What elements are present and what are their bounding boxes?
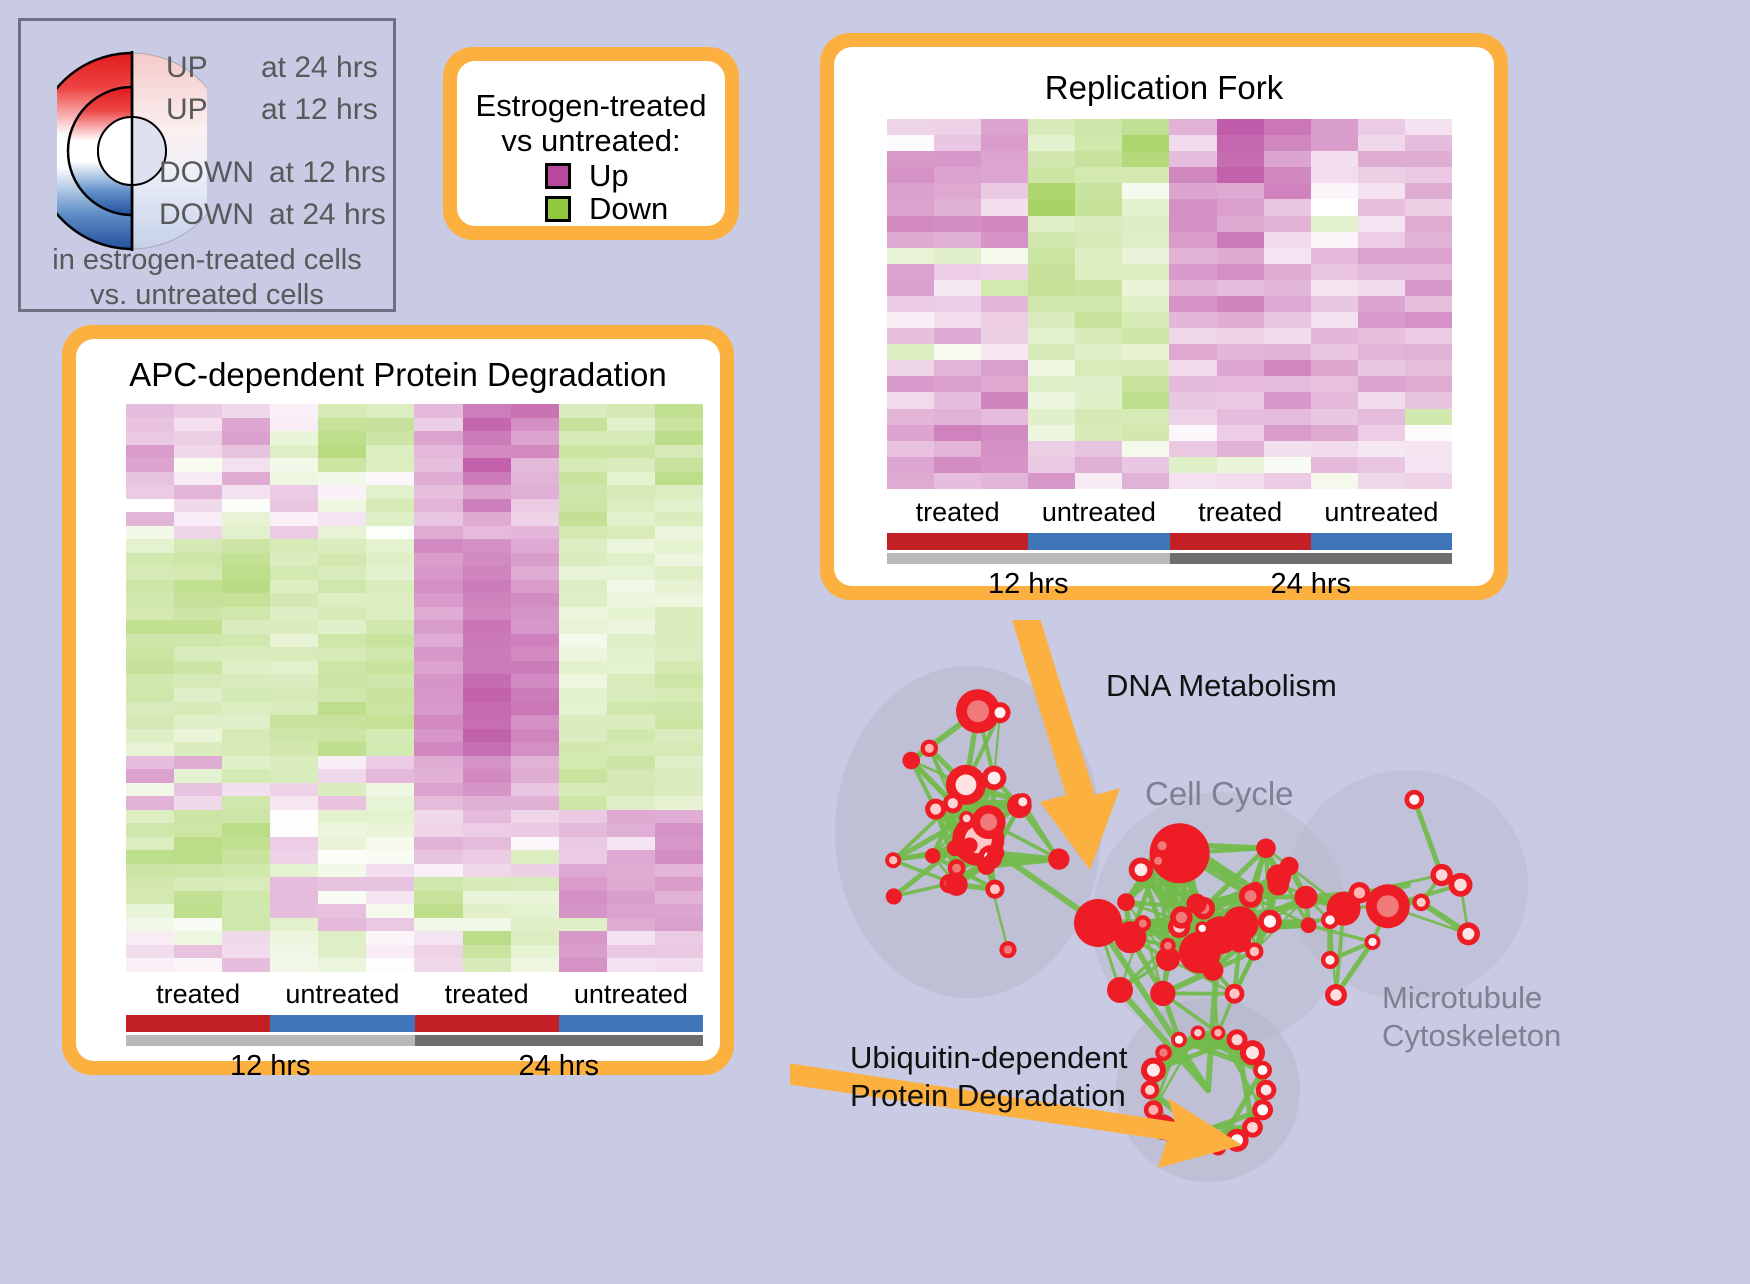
- heatmap-cell: [463, 566, 511, 580]
- heatmap-cell: [1405, 328, 1452, 344]
- sample-label: treated: [1170, 497, 1311, 528]
- heatmap-cell: [126, 499, 174, 513]
- network-node[interactable]: [1129, 857, 1154, 882]
- node-inner-core: [1139, 919, 1147, 927]
- heatmap-cell: [1028, 344, 1075, 360]
- key-label-down-12: DOWN: [159, 156, 254, 190]
- heatmap-cell: [981, 216, 1028, 232]
- heatmap-cell: [1405, 392, 1452, 408]
- heatmap-cell: [174, 702, 222, 716]
- heatmap-cell: [222, 729, 270, 743]
- heatmap-cell: [174, 418, 222, 432]
- heatmap-cell: [1122, 167, 1169, 183]
- heatmap-cell: [318, 742, 366, 756]
- heatmap-cell: [981, 312, 1028, 328]
- heatmap-cell: [934, 264, 981, 280]
- heatmap-cell: [1122, 312, 1169, 328]
- condition-bar-segment: [1028, 533, 1169, 550]
- heatmap-cell: [174, 674, 222, 688]
- node-inner-core: [1462, 928, 1474, 940]
- node-inner-core: [1148, 1105, 1158, 1115]
- heatmap-cell: [174, 593, 222, 607]
- heatmap-cell: [1122, 328, 1169, 344]
- network-node[interactable]: [1141, 1058, 1166, 1083]
- heatmap-cell: [1264, 264, 1311, 280]
- heatmap-cell: [318, 850, 366, 864]
- heatmap-cell: [1217, 151, 1264, 167]
- heatmap-cell: [559, 593, 607, 607]
- heatmap-cell: [655, 864, 703, 878]
- heatmap-cell: [222, 674, 270, 688]
- heatmap-cell: [887, 119, 934, 135]
- heatmap-cell: [559, 580, 607, 594]
- network-node[interactable]: [1349, 882, 1371, 904]
- heatmap-cell: [414, 810, 462, 824]
- heatmap-cell: [270, 620, 318, 634]
- heatmap-cell: [607, 688, 655, 702]
- heatmap-cell: [270, 796, 318, 810]
- heatmap-cell: [270, 634, 318, 648]
- network-node[interactable]: [1191, 1025, 1206, 1040]
- cluster-label-microtubule-line1: Microtubule: [1382, 980, 1542, 1017]
- heatmap-cell: [270, 931, 318, 945]
- heatmap-cell: [318, 607, 366, 621]
- heatmap-cell: [366, 904, 414, 918]
- heatmap-cell: [559, 485, 607, 499]
- node-inner-core: [1409, 794, 1419, 804]
- heatmap-cell: [1311, 232, 1358, 248]
- heatmap-cell: [1122, 151, 1169, 167]
- network-node[interactable]: [1171, 1032, 1187, 1048]
- heatmap-cell: [1217, 264, 1264, 280]
- replication-fork-panel: Replication Fork treateduntreatedtreated…: [820, 33, 1508, 600]
- heatmap-cell: [463, 418, 511, 432]
- heatmap-cell: [559, 512, 607, 526]
- network-node[interactable]: [1258, 910, 1282, 934]
- heatmap-cell: [559, 769, 607, 783]
- heatmap-cell: [270, 418, 318, 432]
- heatmap-cell: [270, 472, 318, 486]
- heatmap-cell: [655, 418, 703, 432]
- network-node[interactable]: [902, 752, 920, 770]
- node-inner-core: [1325, 955, 1334, 964]
- heatmap-cell: [655, 620, 703, 634]
- heatmap-cell: [366, 823, 414, 837]
- heatmap-cell: [463, 445, 511, 459]
- heatmap-cell: [463, 850, 511, 864]
- node-inner-core: [1232, 1034, 1243, 1045]
- heatmap-cell: [887, 312, 934, 328]
- network-node[interactable]: [962, 837, 978, 853]
- heatmap-cell: [559, 742, 607, 756]
- node-outer-ring: [1150, 981, 1175, 1006]
- heatmap-cell: [270, 756, 318, 770]
- network-node[interactable]: [1256, 1080, 1277, 1101]
- heatmap-cell: [1264, 328, 1311, 344]
- network-node[interactable]: [1203, 960, 1224, 981]
- heatmap-cell: [222, 783, 270, 797]
- heatmap-cell: [270, 526, 318, 540]
- heatmap-cell: [318, 566, 366, 580]
- heatmap-cell: [655, 729, 703, 743]
- heatmap-cell: [1358, 135, 1405, 151]
- heatmap-cell: [414, 729, 462, 743]
- network-node[interactable]: [1412, 894, 1430, 912]
- heatmap-cell: [559, 783, 607, 797]
- heatmap-cell: [607, 526, 655, 540]
- heatmap-cell: [1075, 376, 1122, 392]
- heatmap-cell: [655, 499, 703, 513]
- replication-fork-sample-labels: treateduntreatedtreateduntreated: [887, 497, 1452, 528]
- heatmap-cell: [1311, 441, 1358, 457]
- heatmap-cell: [655, 674, 703, 688]
- heatmap-cell: [607, 796, 655, 810]
- network-node[interactable]: [1301, 917, 1317, 933]
- heatmap-cell: [934, 216, 981, 232]
- network-node[interactable]: [1457, 922, 1480, 945]
- heatmap-cell: [511, 674, 559, 688]
- heatmap-cell: [1311, 425, 1358, 441]
- heatmap-cell: [1075, 473, 1122, 489]
- heatmap-cell: [222, 837, 270, 851]
- heatmap-cell: [1028, 328, 1075, 344]
- network-node[interactable]: [1266, 864, 1291, 889]
- heatmap-cell: [511, 702, 559, 716]
- pathway-network-svg: [790, 620, 1750, 1279]
- heatmap-cell: [1075, 248, 1122, 264]
- heatmap-cell: [318, 431, 366, 445]
- apc-condition-bar: [126, 1015, 703, 1032]
- heatmap-cell: [270, 607, 318, 621]
- heatmap-cell: [1358, 312, 1405, 328]
- heatmap-cell: [559, 931, 607, 945]
- heatmap-cell: [655, 634, 703, 648]
- heatmap-cell: [1122, 425, 1169, 441]
- network-node[interactable]: [1325, 984, 1347, 1006]
- replication-fork-time-bar: [887, 553, 1452, 564]
- heatmap-cell: [1217, 409, 1264, 425]
- sample-label: untreated: [1028, 497, 1169, 528]
- network-node[interactable]: [1239, 884, 1263, 908]
- heatmap-cell: [1028, 392, 1075, 408]
- heatmap-cell: [318, 580, 366, 594]
- heatmap-cell: [318, 958, 366, 972]
- condition-bar-segment: [126, 1015, 270, 1032]
- heatmap-cell: [366, 445, 414, 459]
- heatmap-cell: [1405, 409, 1452, 425]
- heatmap-cell: [270, 810, 318, 824]
- network-node[interactable]: [989, 702, 1010, 723]
- heatmap-cell: [1028, 473, 1075, 489]
- network-node[interactable]: [1144, 1100, 1163, 1119]
- node-inner-core: [925, 744, 934, 753]
- heatmap-cell: [1217, 360, 1264, 376]
- node-inner-core: [988, 772, 1001, 785]
- network-node[interactable]: [1135, 915, 1151, 931]
- heatmap-cell: [414, 539, 462, 553]
- node-inner-core: [1159, 1049, 1167, 1057]
- node-inner-core: [1229, 989, 1239, 999]
- heatmap-cell: [511, 729, 559, 743]
- apc-panel: APC-dependent Protein Degradation treate…: [62, 325, 734, 1075]
- heatmap-cell: [655, 566, 703, 580]
- heatmap-cell: [559, 634, 607, 648]
- heatmap-cell: [1122, 296, 1169, 312]
- heatmap-cell: [1264, 344, 1311, 360]
- heatmap-cell: [1122, 344, 1169, 360]
- heatmap-cell: [655, 931, 703, 945]
- heatmap-cell: [463, 647, 511, 661]
- heatmap-cell: [1028, 425, 1075, 441]
- heatmap-cell: [655, 553, 703, 567]
- heatmap-cell: [981, 280, 1028, 296]
- legend-swatch-up: [545, 163, 571, 189]
- heatmap-cell: [1122, 473, 1169, 489]
- node-inner-core: [1164, 942, 1172, 950]
- heatmap-cell: [414, 688, 462, 702]
- network-node[interactable]: [999, 941, 1016, 958]
- legend-swatch-down: [545, 196, 571, 222]
- apc-heatmap: [126, 404, 703, 972]
- key-label-down-24: DOWN: [159, 198, 254, 232]
- heatmap-cell: [1169, 312, 1216, 328]
- heatmap-cell: [126, 445, 174, 459]
- heatmap-cell: [1169, 183, 1216, 199]
- heatmap-cell: [414, 512, 462, 526]
- heatmap-cell: [607, 945, 655, 959]
- heatmap-cell: [463, 756, 511, 770]
- heatmap-cell: [1028, 119, 1075, 135]
- heatmap-cell: [414, 702, 462, 716]
- heatmap-cell: [1169, 376, 1216, 392]
- heatmap-cell: [1075, 328, 1122, 344]
- network-node[interactable]: [1074, 899, 1122, 947]
- heatmap-cell: [126, 756, 174, 770]
- heatmap-cell: [1075, 425, 1122, 441]
- network-node[interactable]: [1228, 930, 1251, 953]
- network-node[interactable]: [987, 844, 1004, 861]
- heatmap-cell: [366, 485, 414, 499]
- heatmap-cell: [174, 526, 222, 540]
- heatmap-cell: [1405, 376, 1452, 392]
- heatmap-cell: [222, 958, 270, 972]
- heatmap-cell: [126, 539, 174, 553]
- heatmap-cell: [1028, 248, 1075, 264]
- network-node[interactable]: [1107, 977, 1133, 1003]
- heatmap-cell: [222, 769, 270, 783]
- heatmap-cell: [366, 418, 414, 432]
- heatmap-cell: [887, 167, 934, 183]
- network-node[interactable]: [885, 852, 901, 868]
- heatmap-cell: [607, 593, 655, 607]
- heatmap-cell: [463, 674, 511, 688]
- heatmap-cell: [511, 877, 559, 891]
- replication-fork-inner: Replication Fork treateduntreatedtreated…: [834, 47, 1494, 586]
- network-node[interactable]: [925, 799, 946, 820]
- heatmap-cell: [174, 864, 222, 878]
- heatmap-cell: [1264, 199, 1311, 215]
- network-node[interactable]: [1256, 838, 1276, 858]
- legend-title-line2: vs untreated:: [457, 124, 725, 159]
- heatmap-cell: [607, 553, 655, 567]
- time-label: 24 hrs: [1170, 568, 1453, 601]
- network-node[interactable]: [982, 766, 1007, 791]
- heatmap-cell: [318, 783, 366, 797]
- node-outer-ring: [962, 837, 978, 853]
- network-node[interactable]: [1404, 790, 1424, 810]
- heatmap-cell: [1405, 360, 1452, 376]
- heatmap-cell: [1075, 409, 1122, 425]
- heatmap-cell: [607, 566, 655, 580]
- network-node[interactable]: [886, 888, 902, 904]
- node-outer-ring: [886, 888, 902, 904]
- heatmap-cell: [414, 864, 462, 878]
- network-node[interactable]: [1366, 884, 1410, 928]
- heatmap-cell: [318, 404, 366, 418]
- heatmap-cell: [463, 593, 511, 607]
- heatmap-cell: [222, 742, 270, 756]
- heatmap-cell: [1169, 425, 1216, 441]
- heatmap-cell: [126, 837, 174, 851]
- heatmap-cell: [270, 918, 318, 932]
- heatmap-cell: [463, 823, 511, 837]
- network-node[interactable]: [943, 793, 963, 813]
- heatmap-cell: [126, 593, 174, 607]
- network-node[interactable]: [972, 805, 1006, 839]
- heatmap-cell: [655, 431, 703, 445]
- heatmap-cell: [559, 823, 607, 837]
- network-node[interactable]: [1253, 1061, 1272, 1080]
- network-node[interactable]: [1117, 893, 1135, 911]
- heatmap-cell: [366, 539, 414, 553]
- network-node[interactable]: [1155, 1044, 1172, 1061]
- heatmap-cell: [655, 756, 703, 770]
- network-node[interactable]: [925, 848, 940, 863]
- network-node[interactable]: [1294, 886, 1317, 909]
- heatmap-cell: [1311, 280, 1358, 296]
- network-node[interactable]: [1365, 934, 1381, 950]
- heatmap-cell: [270, 593, 318, 607]
- heatmap-cell: [270, 566, 318, 580]
- heatmap-cell: [559, 431, 607, 445]
- heatmap-cell: [222, 553, 270, 567]
- heatmap-cell: [463, 553, 511, 567]
- heatmap-cell: [366, 783, 414, 797]
- network-node[interactable]: [1252, 1099, 1273, 1120]
- heatmap-cell: [511, 931, 559, 945]
- heatmap-cell: [1264, 119, 1311, 135]
- heatmap-cell: [1405, 280, 1452, 296]
- heatmap-cell: [1217, 119, 1264, 135]
- heatmap-cell: [1217, 296, 1264, 312]
- network-node[interactable]: [1160, 938, 1176, 954]
- heatmap-cell: [1264, 167, 1311, 183]
- heatmap-cell: [414, 958, 462, 972]
- heatmap-cell: [1405, 264, 1452, 280]
- heatmap-cell: [463, 837, 511, 851]
- network-node[interactable]: [1048, 848, 1069, 869]
- heatmap-cell: [511, 512, 559, 526]
- heatmap-cell: [414, 593, 462, 607]
- heatmap-cell: [1075, 135, 1122, 151]
- network-node[interactable]: [1449, 873, 1473, 897]
- heatmap-cell: [1122, 199, 1169, 215]
- heatmap-cell: [414, 837, 462, 851]
- legend-item-up: Up: [545, 160, 725, 191]
- network-node[interactable]: [1170, 906, 1193, 929]
- heatmap-cell: [222, 526, 270, 540]
- heatmap-cell: [1075, 216, 1122, 232]
- node-inner-core: [1175, 1036, 1183, 1044]
- heatmap-cell: [1169, 409, 1216, 425]
- heatmap-cell: [270, 904, 318, 918]
- network-node[interactable]: [1195, 921, 1209, 935]
- heatmap-cell: [655, 404, 703, 418]
- network-node[interactable]: [1321, 911, 1339, 929]
- network-node[interactable]: [948, 859, 966, 877]
- network-node[interactable]: [921, 740, 938, 757]
- heatmap-cell: [1311, 135, 1358, 151]
- heatmap-cell: [981, 409, 1028, 425]
- heatmap-cell: [1405, 248, 1452, 264]
- heatmap-cell: [887, 248, 934, 264]
- heatmap-cell: [607, 674, 655, 688]
- network-node[interactable]: [1150, 981, 1175, 1006]
- heatmap-cell: [463, 526, 511, 540]
- heatmap-cell: [1217, 344, 1264, 360]
- node-outer-ring: [1266, 864, 1291, 889]
- heatmap-cell: [463, 810, 511, 824]
- heatmap-cell: [174, 850, 222, 864]
- heatmap-cell: [1169, 344, 1216, 360]
- network-node[interactable]: [1014, 793, 1031, 810]
- network-node[interactable]: [947, 840, 963, 856]
- heatmap-cell: [607, 539, 655, 553]
- network-node[interactable]: [1178, 836, 1196, 854]
- heatmap-cell: [126, 688, 174, 702]
- heatmap-cell: [414, 877, 462, 891]
- heatmap-cell: [174, 931, 222, 945]
- heatmap-cell: [1028, 312, 1075, 328]
- heatmap-cell: [655, 742, 703, 756]
- heatmap-cell: [270, 431, 318, 445]
- heatmap-cell: [559, 810, 607, 824]
- heatmap-cell: [1358, 199, 1405, 215]
- network-node[interactable]: [1153, 837, 1171, 855]
- network-node[interactable]: [1225, 984, 1245, 1004]
- heatmap-cell: [1358, 296, 1405, 312]
- heatmap-cell: [607, 472, 655, 486]
- network-node[interactable]: [1211, 1026, 1225, 1040]
- heatmap-cell: [1358, 360, 1405, 376]
- network-node[interactable]: [1141, 1081, 1160, 1100]
- node-outer-ring: [1107, 977, 1133, 1003]
- heatmap-cell: [318, 877, 366, 891]
- heatmap-cell: [1028, 376, 1075, 392]
- heatmap-cell: [126, 512, 174, 526]
- heatmap-cell: [174, 837, 222, 851]
- network-node[interactable]: [959, 811, 974, 826]
- heatmap-cell: [318, 945, 366, 959]
- network-node[interactable]: [985, 880, 1004, 899]
- heatmap-cell: [559, 796, 607, 810]
- heatmap-cell: [981, 360, 1028, 376]
- heatmap-cell: [511, 485, 559, 499]
- node-inner-core: [1176, 912, 1187, 923]
- heatmap-cell: [934, 360, 981, 376]
- network-node[interactable]: [1321, 951, 1339, 969]
- heatmap-cell: [126, 458, 174, 472]
